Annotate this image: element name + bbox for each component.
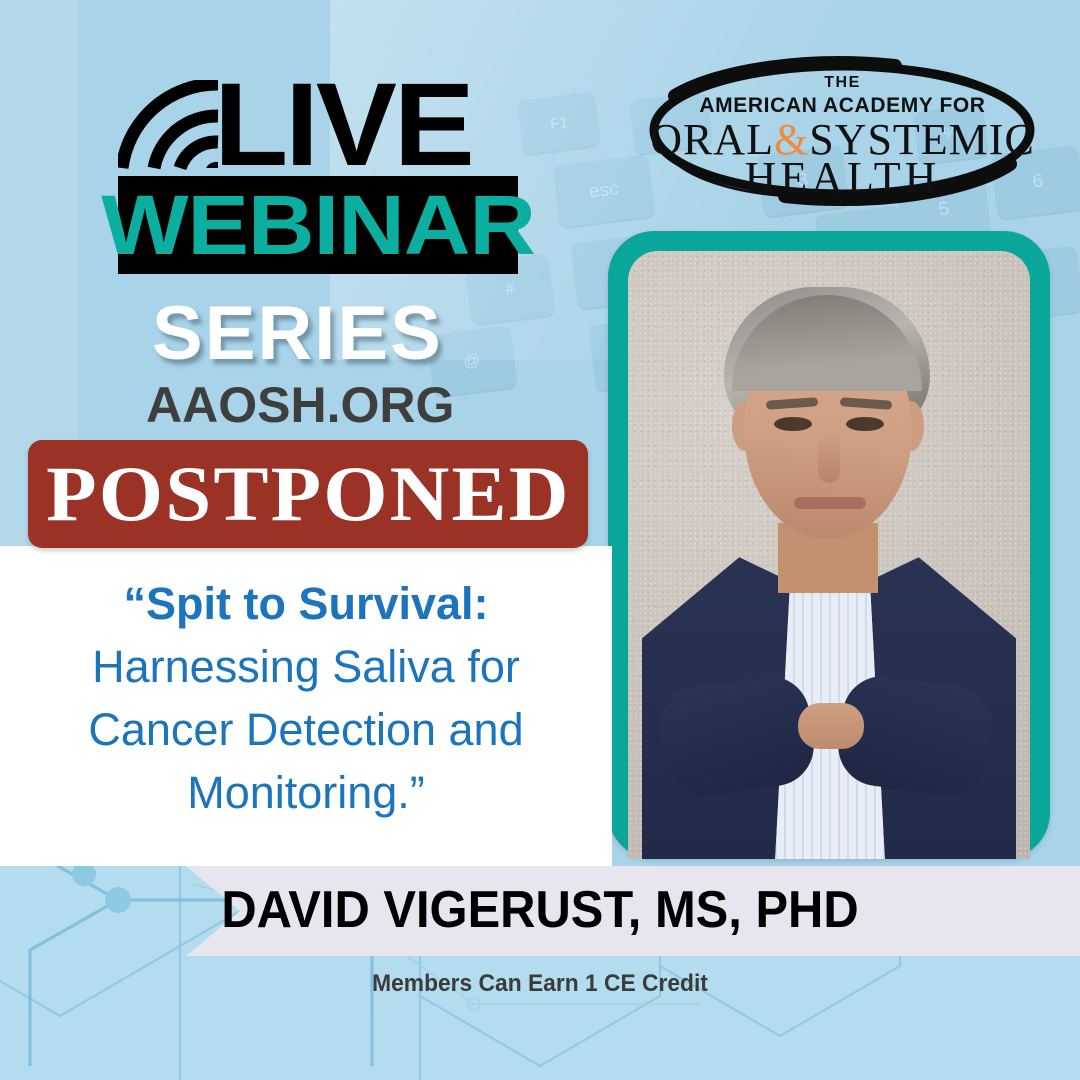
photo-mouth	[794, 497, 866, 509]
live-webinar-badge: LIVE WEBINAR	[118, 72, 518, 274]
photo-eye-right	[846, 417, 884, 431]
website-label[interactable]: AAOSH.ORG	[146, 380, 454, 430]
broadcast-waves-icon	[118, 80, 222, 172]
live-label: LIVE	[214, 66, 472, 184]
speaker-photo	[628, 251, 1030, 859]
status-badge-label: POSTPONED	[46, 455, 570, 533]
logo-text-block: THE AMERICAN ACADEMY FOR ORAL&SYSTEMIC H…	[645, 52, 1040, 207]
logo-line-the: THE	[645, 74, 1040, 92]
photo-eye-left	[774, 417, 812, 431]
webinar-bar: WEBINAR	[118, 176, 518, 274]
aaosh-logo: THE AMERICAN ACADEMY FOR ORAL&SYSTEMIC H…	[645, 52, 1040, 207]
live-row: LIVE	[118, 72, 518, 180]
speaker-photo-frame	[608, 231, 1050, 859]
series-label: SERIES	[152, 296, 443, 372]
photo-hand	[798, 703, 864, 749]
webinar-label: WEBINAR	[101, 183, 535, 267]
speaker-name: DAVID VIGERUST, MS, PHD	[32, 884, 1047, 936]
speaker-name-band: DAVID VIGERUST, MS, PHD	[0, 866, 1080, 956]
webinar-title-line-1: “Spit to Survival:	[30, 572, 582, 635]
logo-line-health: HEALTH	[645, 156, 1040, 200]
photo-nose	[818, 431, 840, 483]
status-badge: POSTPONED	[28, 440, 588, 548]
ce-credit-note: Members Can Earn 1 CE Credit	[27, 972, 1053, 996]
webinar-title-line-4: Monitoring.”	[30, 761, 582, 824]
webinar-promo-poster: esc ~ 3 4 5 6 % # @ F1	[0, 0, 1080, 1080]
webinar-title-line-3: Cancer Detection and	[30, 698, 582, 761]
webinar-title-line-2: Harnessing Saliva for	[30, 635, 582, 698]
webinar-title: “Spit to Survival: Harnessing Saliva for…	[30, 572, 582, 824]
